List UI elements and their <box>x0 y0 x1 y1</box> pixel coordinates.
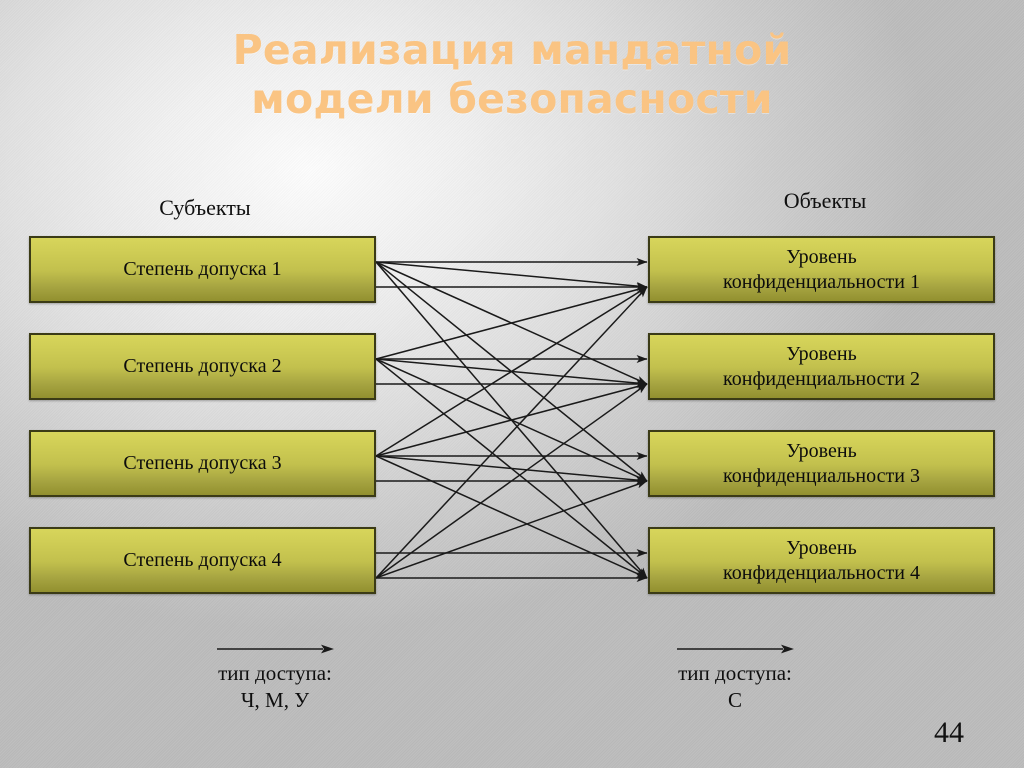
subject-node-2-label: Степень допуска 2 <box>117 354 287 379</box>
legend-arrow-right-icon <box>675 642 795 656</box>
object-node-1-line-1: Уровень <box>786 246 856 268</box>
object-node-3-line-1: Уровень <box>786 440 856 462</box>
legend-access-type-left: тип доступа: Ч, М, У <box>140 642 410 714</box>
slide-canvas: Реализация мандатной модели безопасности… <box>0 0 1024 768</box>
subject-node-4-label: Степень допуска 4 <box>117 548 287 573</box>
subject-node-1-label: Степень допуска 1 <box>117 257 287 282</box>
page-title-line-2: модели безопасности <box>60 75 964 124</box>
page-title: Реализация мандатной модели безопасности <box>60 26 964 124</box>
subject-node-2[interactable]: Степень допуска 2 <box>29 333 376 400</box>
object-node-3-label: Уровень конфиденциальности 3 <box>717 439 926 489</box>
subject-node-3-label: Степень допуска 3 <box>117 451 287 476</box>
legend-access-type-right: тип доступа: С <box>600 642 870 714</box>
legend-arrow-left-icon <box>215 642 335 656</box>
object-node-4-line-1: Уровень <box>786 537 856 559</box>
object-node-2-line-2: конфиденциальности 2 <box>723 367 920 392</box>
object-node-4[interactable]: Уровень конфиденциальности 4 <box>648 527 995 594</box>
legend-left-line-2: Ч, М, У <box>140 687 410 714</box>
object-node-4-label: Уровень конфиденциальности 4 <box>717 536 926 586</box>
objects-column-caption: Объекты <box>700 188 950 214</box>
subjects-column-caption: Субъекты <box>80 195 330 221</box>
subject-node-1[interactable]: Степень допуска 1 <box>29 236 376 303</box>
object-node-2-line-1: Уровень <box>786 343 856 365</box>
subject-node-4[interactable]: Степень допуска 4 <box>29 527 376 594</box>
legend-right-line-1: тип доступа: <box>600 660 870 687</box>
subject-node-3[interactable]: Степень допуска 3 <box>29 430 376 497</box>
object-node-4-line-2: конфиденциальности 4 <box>723 561 920 586</box>
object-node-2[interactable]: Уровень конфиденциальности 2 <box>648 333 995 400</box>
page-title-line-1: Реализация мандатной <box>60 26 964 75</box>
object-node-3-line-2: конфиденциальности 3 <box>723 464 920 489</box>
page-number: 44 <box>934 716 964 750</box>
legend-right-line-2: С <box>600 687 870 714</box>
object-node-2-label: Уровень конфиденциальности 2 <box>717 342 926 392</box>
legend-left-line-1: тип доступа: <box>140 660 410 687</box>
object-node-1-line-2: конфиденциальности 1 <box>723 270 920 295</box>
object-node-1-label: Уровень конфиденциальности 1 <box>717 245 926 295</box>
object-node-1[interactable]: Уровень конфиденциальности 1 <box>648 236 995 303</box>
object-node-3[interactable]: Уровень конфиденциальности 3 <box>648 430 995 497</box>
